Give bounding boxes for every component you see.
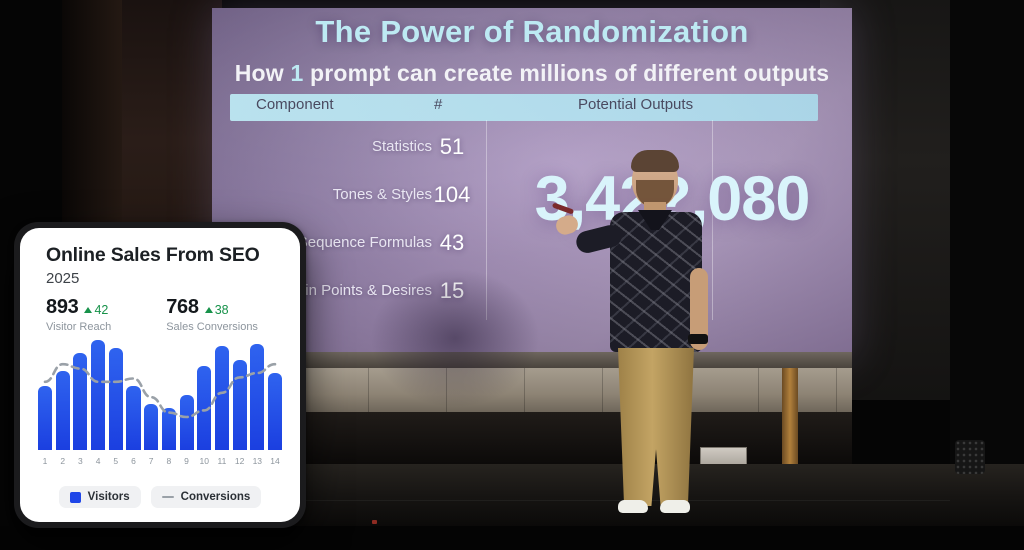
slide-title: The Power of Randomization: [212, 14, 852, 50]
x-tick-8: 8: [162, 456, 176, 466]
presenter-right-shoe: [660, 500, 690, 513]
stage-speaker-grill: [955, 440, 985, 474]
slide-table-row-label-2: Tones & Styles: [262, 186, 432, 203]
slide-subtitle-highlight: 1: [290, 60, 303, 86]
presenter-shirt: [610, 212, 702, 352]
x-tick-2: 2: [56, 456, 70, 466]
kpi-sales-conversions: 768 38 Sales Conversions: [166, 296, 258, 333]
kpi-sales-conversions-row: 768 38: [166, 296, 258, 319]
legend-square-icon: [70, 492, 81, 503]
slide-subtitle: How 1 prompt can create millions of diff…: [212, 60, 852, 87]
x-axis-labels: 1234567891011121314: [38, 456, 282, 466]
sales-chart[interactable]: 1234567891011121314: [38, 340, 282, 464]
back-wall-dark: [212, 412, 852, 464]
x-tick-9: 9: [180, 456, 194, 466]
x-tick-4: 4: [91, 456, 105, 466]
card-subtitle: 2025: [46, 270, 79, 287]
legend-label-visitors: Visitors: [88, 491, 130, 503]
slide-subtitle-prefix: How: [235, 60, 291, 86]
x-tick-5: 5: [109, 456, 123, 466]
kpi-visitor-reach-row: 893 42: [46, 296, 111, 319]
x-tick-11: 11: [215, 456, 229, 466]
presenter-hair: [631, 150, 679, 172]
kpi-visitor-reach-value: 893: [46, 296, 78, 319]
kpi-visitor-reach: 893 42 Visitor Reach: [46, 296, 111, 333]
kpi-visitor-reach-delta-value: 42: [94, 303, 108, 317]
dashboard-card[interactable]: Online Sales From SEO 2025 893 42 Visito…: [20, 228, 300, 522]
slide-table-row-count-3: 43: [417, 230, 487, 256]
presenter-pants: [618, 348, 694, 506]
x-tick-1: 1: [38, 456, 52, 466]
x-tick-13: 13: [250, 456, 264, 466]
card-title: Online Sales From SEO: [46, 244, 260, 267]
presenter-left-shoe: [618, 500, 648, 513]
foreground-strip: [0, 526, 1024, 550]
x-tick-3: 3: [73, 456, 87, 466]
x-tick-14: 14: [268, 456, 282, 466]
line-series-conversions: [38, 340, 282, 450]
slide-table-header-outputs: Potential Outputs: [578, 96, 693, 113]
slide-table-row-count-2: 104: [417, 182, 487, 208]
slide-table-row-label-1: Statistics: [262, 138, 432, 155]
chart-legend[interactable]: Visitors Conversions: [20, 486, 300, 508]
legend-dash-icon: [162, 496, 174, 498]
legend-item-conversions[interactable]: Conversions: [151, 486, 262, 508]
slide-table-row-count-1: 51: [417, 134, 487, 160]
kpi-sales-conversions-label: Sales Conversions: [166, 321, 258, 333]
kpi-sales-conversions-delta: 38: [205, 303, 229, 317]
kpi-sales-conversions-delta-value: 38: [215, 303, 229, 317]
kpi-visitor-reach-label: Visitor Reach: [46, 321, 111, 333]
x-tick-10: 10: [197, 456, 211, 466]
red-light-marker: [372, 520, 377, 524]
wooden-post: [782, 368, 798, 464]
slide-table-header-component: Component: [256, 96, 334, 113]
x-tick-12: 12: [233, 456, 247, 466]
presenter-wristwatch: [688, 334, 708, 344]
presenter: [560, 148, 750, 550]
x-tick-7: 7: [144, 456, 158, 466]
slide-subtitle-suffix: prompt can create millions of different …: [303, 60, 829, 86]
screenshot-root: The Power of Randomization How 1 prompt …: [0, 0, 1024, 550]
legend-item-visitors[interactable]: Visitors: [59, 486, 141, 508]
legend-label-conversions: Conversions: [181, 491, 251, 503]
caret-up-icon: [205, 307, 213, 313]
kpi-visitor-reach-delta: 42: [84, 303, 108, 317]
kpi-sales-conversions-value: 768: [166, 296, 198, 319]
x-tick-6: 6: [126, 456, 140, 466]
presenter-shadow: [370, 268, 540, 408]
kpi-stat-group: 893 42 Visitor Reach 768 38 Sales Conv: [46, 296, 286, 333]
caret-up-icon: [84, 307, 92, 313]
slide-table-header-count: #: [434, 96, 442, 113]
